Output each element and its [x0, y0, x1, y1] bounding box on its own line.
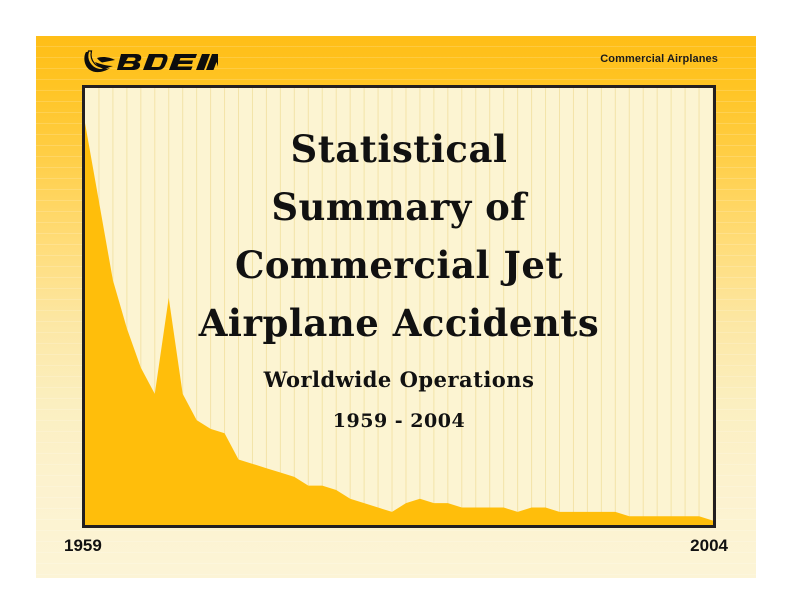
- accident-rate-chart: [82, 85, 716, 528]
- chart-area-series: [85, 88, 713, 525]
- slide: Commercial Airplanes Statistical Summary…: [36, 36, 756, 578]
- slide-header: Commercial Airplanes: [36, 36, 756, 85]
- boeing-logo: [82, 49, 218, 75]
- axis-label-end-year: 2004: [690, 536, 728, 556]
- business-unit-label: Commercial Airplanes: [600, 53, 718, 65]
- axis-label-start-year: 1959: [64, 536, 102, 556]
- chart-plot-area: [85, 88, 713, 525]
